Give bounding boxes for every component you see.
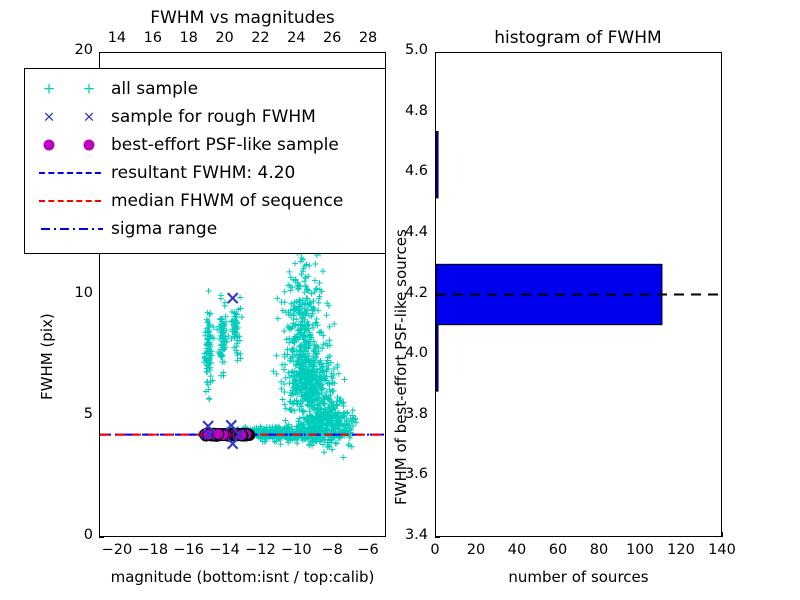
right-x-tick: 20	[456, 542, 496, 558]
right-x-tick: 100	[620, 542, 660, 558]
histogram-bar	[436, 325, 438, 391]
left-top-tick: 22	[248, 30, 272, 46]
left-top-tick: 20	[213, 30, 237, 46]
left-panel-title: FWHM vs magnitudes	[99, 8, 386, 28]
cross-marker-icon: × ×	[33, 103, 107, 131]
legend-item-all-sample[interactable]: + + all sample	[33, 75, 375, 103]
left-bottom-tick: −12	[240, 542, 280, 558]
legend-item-psf-sample[interactable]: best-effort PSF-like sample	[33, 131, 375, 159]
left-y-tick: 0	[55, 527, 93, 543]
right-y-tick: 4.8	[388, 103, 428, 119]
legend-label-sigma-range: sigma range	[111, 219, 217, 239]
all-sample-points	[196, 238, 359, 460]
plus-marker-icon: + +	[33, 75, 107, 103]
right-y-tick-mark	[435, 537, 440, 538]
right-panel-title: histogram of FWHM	[435, 28, 721, 48]
right-x-tick: 140	[702, 542, 742, 558]
left-bottom-tick: −6	[348, 542, 388, 558]
right-x-tick: 60	[538, 542, 578, 558]
right-y-tick: 4.6	[388, 163, 428, 179]
left-yaxis-label: FWHM (pix)	[38, 313, 56, 400]
left-bottom-tick: −14	[205, 542, 245, 558]
left-top-tick: 26	[320, 30, 344, 46]
dashdot-line-icon	[33, 215, 107, 243]
left-y-tick-mark	[99, 537, 104, 538]
histogram-bar	[436, 131, 438, 197]
legend-label-rough-fwhm: sample for rough FWHM	[111, 107, 316, 127]
figure-canvas: FWHM vs magnitudes 1416182022242628 0510…	[0, 0, 800, 600]
histogram-svg	[436, 53, 721, 536]
left-top-tick: 24	[284, 30, 308, 46]
left-top-tick: 16	[141, 30, 165, 46]
right-y-tick: 5.0	[388, 42, 428, 58]
left-y-tick: 5	[55, 406, 93, 422]
left-y-tick: 10	[55, 285, 93, 301]
left-top-tick: 28	[356, 30, 380, 46]
left-xaxis-label: magnitude (bottom:isnt / top:calib)	[99, 568, 386, 586]
left-top-tick: 18	[177, 30, 201, 46]
left-bottom-tick: −18	[133, 542, 173, 558]
legend-label-resultant-fwhm: resultant FWHM: 4.20	[111, 163, 295, 183]
right-x-tick: 80	[579, 542, 619, 558]
legend-label-psf-sample: best-effort PSF-like sample	[111, 135, 339, 155]
right-x-tick: 40	[497, 542, 537, 558]
dashed-line-blue-icon	[33, 159, 107, 187]
legend-item-resultant-fwhm[interactable]: resultant FWHM: 4.20	[33, 159, 375, 187]
legend-item-sigma-range[interactable]: sigma range	[33, 215, 375, 243]
legend-item-rough-fwhm[interactable]: × × sample for rough FWHM	[33, 103, 375, 131]
left-bottom-tick: −8	[312, 542, 352, 558]
right-yaxis-label: FWHM of best-effort PSF-like sources	[392, 229, 410, 505]
left-y-tick: 20	[55, 42, 93, 58]
left-bottom-tick: −16	[169, 542, 209, 558]
legend-label-median-fhwm: median FHWM of sequence	[111, 191, 343, 211]
legend-box: + + all sample × × sample for rough FWHM…	[24, 68, 386, 254]
left-bottom-tick: −10	[276, 542, 316, 558]
legend-label-all-sample: all sample	[111, 79, 198, 99]
histogram-plot-area[interactable]	[435, 52, 722, 537]
right-x-tick: 0	[415, 542, 455, 558]
left-top-tick: 14	[105, 30, 129, 46]
right-x-tick: 120	[661, 542, 701, 558]
dashed-line-red-icon	[33, 187, 107, 215]
legend-item-median-fhwm[interactable]: median FHWM of sequence	[33, 187, 375, 215]
left-bottom-tick: −20	[97, 542, 137, 558]
right-y-tick: 3.4	[388, 527, 428, 543]
right-xaxis-label: number of sources	[435, 568, 722, 586]
circle-marker-icon	[33, 131, 107, 159]
right-x-tick-mark	[722, 532, 723, 537]
